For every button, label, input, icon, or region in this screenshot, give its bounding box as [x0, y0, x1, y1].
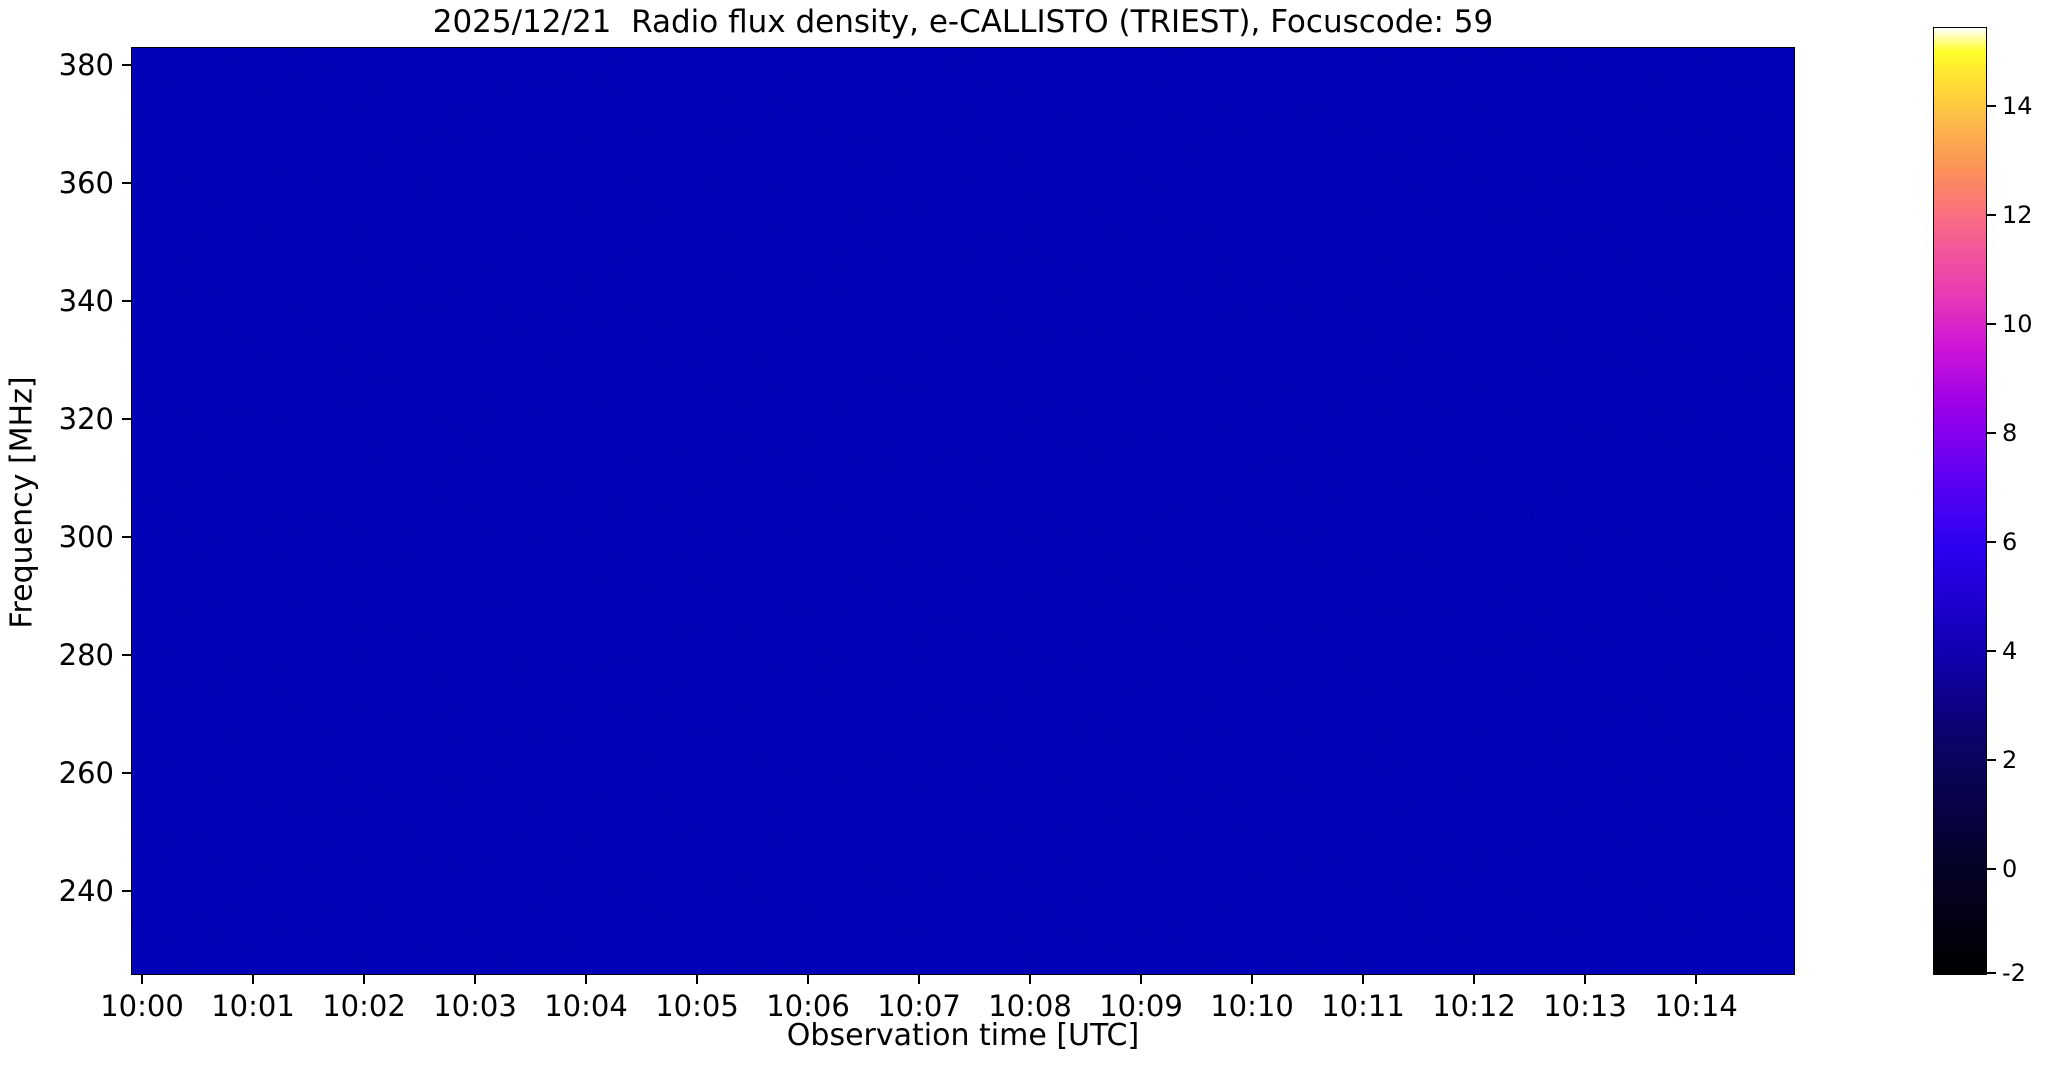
colorbar-tickmark: [1987, 214, 1996, 216]
colorbar-tickmark: [1987, 759, 1996, 761]
y-tickmark: [122, 64, 131, 66]
x-tickmark: [252, 975, 254, 984]
page-title: 2025/12/21 Radio flux density, e-CALLIST…: [131, 2, 1795, 42]
x-tickmark: [141, 975, 143, 984]
y-tickmark: [122, 182, 131, 184]
x-tickmark: [1695, 975, 1697, 984]
x-tickmark: [474, 975, 476, 984]
x-tickmark: [585, 975, 587, 984]
x-tickmark: [363, 975, 365, 984]
y-tickmark: [122, 418, 131, 420]
x-axis-label: Observation time [UTC]: [131, 1018, 1795, 1053]
colorbar-tick-label: 6: [2002, 526, 2066, 558]
colorbar-tick-label: 4: [2002, 635, 2066, 667]
figure-canvas: 2025/12/21 Radio flux density, e-CALLIST…: [0, 0, 2066, 1067]
x-tickmark: [1584, 975, 1586, 984]
x-tickmark: [696, 975, 698, 984]
y-tickmark: [122, 654, 131, 656]
colorbar-tick-label: 14: [2002, 90, 2066, 122]
x-tickmark: [1251, 975, 1253, 984]
x-tickmark: [1473, 975, 1475, 984]
x-tickmark: [1362, 975, 1364, 984]
x-tickmark: [807, 975, 809, 984]
spectrogram-heatmap-image: [132, 48, 1794, 974]
colorbar-tickmark: [1987, 105, 1996, 107]
colorbar-tick-label: 0: [2002, 853, 2066, 885]
colorbar-tickmark: [1987, 650, 1996, 652]
colorbar-tickmark: [1987, 868, 1996, 870]
colorbar-axis: 14 12 10 8 6 4 2 0: [1933, 27, 2063, 975]
x-tickmark: [1140, 975, 1142, 984]
colorbar-tick-label: 8: [2002, 417, 2066, 449]
y-tickmark: [122, 890, 131, 892]
y-axis-label: Frequency [MHz]: [5, 39, 40, 967]
spectrogram-plot-area[interactable]: [131, 47, 1795, 975]
x-tickmark: [918, 975, 920, 984]
colorbar-tick-label: 12: [2002, 199, 2066, 231]
colorbar-tick-label: -2: [2002, 957, 2066, 989]
y-tickmark: [122, 300, 131, 302]
colorbar-tickmark: [1987, 541, 1996, 543]
y-tickmark: [122, 772, 131, 774]
colorbar-tickmark: [1987, 972, 1996, 974]
colorbar-tick-label: 2: [2002, 744, 2066, 776]
colorbar-tick-label: 10: [2002, 308, 2066, 340]
x-tickmark: [1029, 975, 1031, 984]
y-tickmark: [122, 536, 131, 538]
colorbar-tickmark: [1987, 432, 1996, 434]
colorbar-tickmark: [1987, 323, 1996, 325]
